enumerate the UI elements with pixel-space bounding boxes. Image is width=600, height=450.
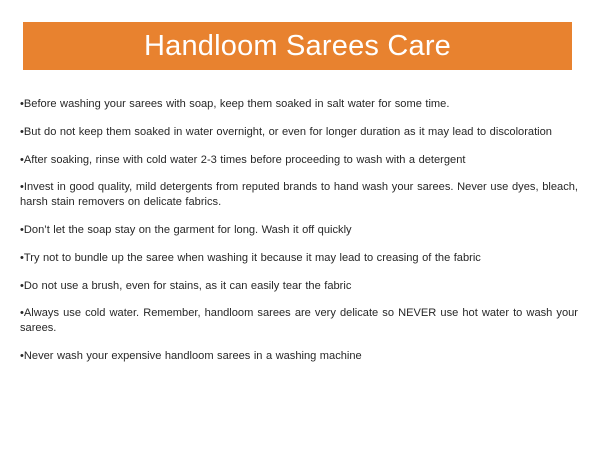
list-item: •Invest in good quality, mild detergents…	[20, 180, 578, 210]
list-item-text: Try not to bundle up the saree when wash…	[24, 252, 481, 264]
title-banner: Handloom Sarees Care	[23, 22, 572, 70]
list-item-text: Always use cold water. Remember, handloo…	[20, 307, 578, 334]
list-item: •Before washing your sarees with soap, k…	[20, 97, 578, 112]
list-item-text: But do not keep them soaked in water ove…	[24, 126, 552, 138]
list-item: •Never wash your expensive handloom sare…	[20, 349, 578, 364]
list-item: •Don’t let the soap stay on the garment …	[20, 223, 578, 238]
list-item-text: Don’t let the soap stay on the garment f…	[24, 224, 352, 236]
list-item: •Try not to bundle up the saree when was…	[20, 251, 578, 266]
page-title: Handloom Sarees Care	[144, 32, 451, 61]
list-item: •But do not keep them soaked in water ov…	[20, 125, 578, 140]
list-item: •Always use cold water. Remember, handlo…	[20, 306, 578, 336]
list-item-text: Do not use a brush, even for stains, as …	[24, 280, 352, 292]
list-item-text: Before washing your sarees with soap, ke…	[24, 98, 450, 110]
list-item: •After soaking, rinse with cold water 2-…	[20, 153, 578, 168]
list-item: •Do not use a brush, even for stains, as…	[20, 279, 578, 294]
list-item-text: After soaking, rinse with cold water 2-3…	[24, 154, 466, 166]
bullet-list: •Before washing your sarees with soap, k…	[20, 86, 578, 364]
slide-canvas: Handloom Sarees Care •Before washing you…	[0, 0, 600, 450]
list-item-text: Invest in good quality, mild detergents …	[20, 181, 578, 208]
list-item-text: Never wash your expensive handloom saree…	[24, 350, 362, 362]
